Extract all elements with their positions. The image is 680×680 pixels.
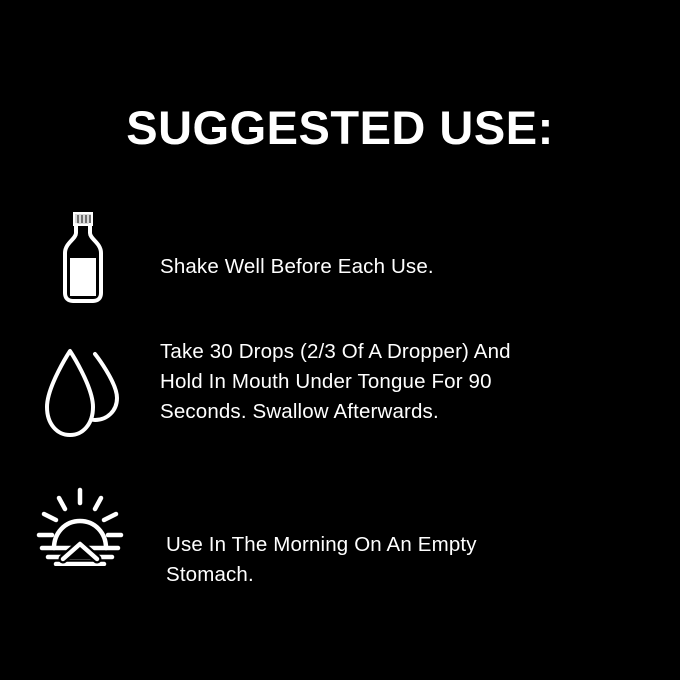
instruction-text-line: Use In The Morning On An Empty [166, 530, 620, 560]
bottle-icon [55, 212, 111, 304]
instruction-text: Shake Well Before Each Use. [160, 196, 680, 282]
instruction-icon-cell [0, 336, 160, 440]
instruction-text: Take 30 Drops (2/3 Of A Dropper) And Hol… [160, 336, 680, 427]
suggested-use-card: SUGGESTED USE: Shake Well Before Each Us… [0, 0, 680, 680]
instruction-text-line: Stomach. [166, 560, 620, 590]
instruction-row: Shake Well Before Each Use. [0, 196, 680, 304]
instruction-text-line: Seconds. Swallow Afterwards. [160, 397, 620, 427]
water-droplets-icon [42, 346, 122, 440]
instruction-row: Use In The Morning On An Empty Stomach. [0, 481, 680, 590]
page-title: SUGGESTED USE: [0, 100, 680, 156]
instruction-row: Take 30 Drops (2/3 Of A Dropper) And Hol… [0, 336, 680, 440]
instruction-text-line: Hold In Mouth Under Tongue For 90 [160, 367, 620, 397]
sunrise-icon [32, 486, 128, 566]
instruction-text: Use In The Morning On An Empty Stomach. [160, 481, 680, 590]
instruction-icon-cell [0, 481, 160, 566]
instruction-icon-cell [0, 196, 160, 304]
instruction-text-line: Take 30 Drops (2/3 Of A Dropper) And [160, 337, 620, 367]
instruction-text-line: Shake Well Before Each Use. [160, 252, 620, 282]
